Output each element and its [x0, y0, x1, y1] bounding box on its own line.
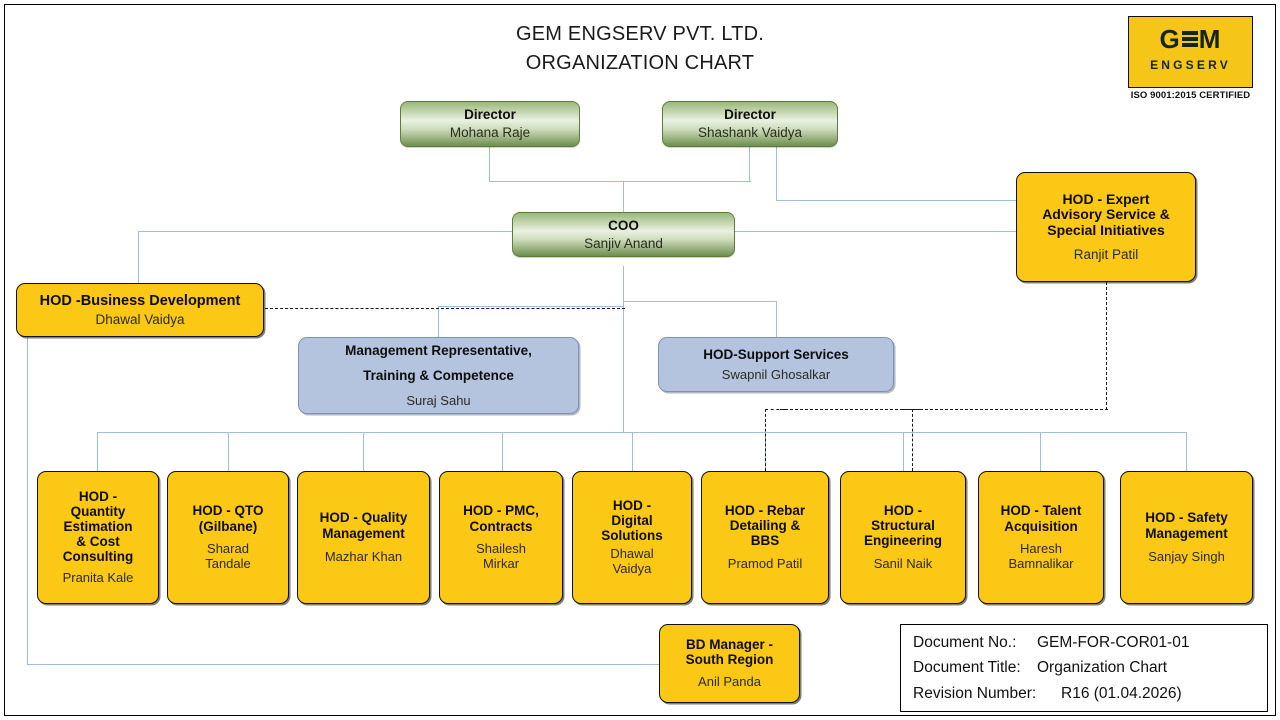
node-role-line-2: Contracts — [469, 519, 532, 534]
node-person: Pranita Kale — [63, 571, 134, 586]
node-role-line-1: HOD - — [884, 503, 922, 518]
document-number-label: Document No.: — [913, 630, 1037, 655]
node-person-line-2: Mirkar — [483, 557, 519, 572]
node-person: Anil Panda — [698, 675, 761, 690]
connector-drop-hod-7 — [903, 432, 904, 471]
node-person: Dhawal Vaidya — [95, 312, 184, 328]
node-role-line-1: HOD - Rebar — [725, 503, 805, 518]
document-info-box: Document No.:GEM-FOR-COR01-01 Document T… — [900, 624, 1268, 712]
node-role: Director — [464, 107, 516, 122]
connector-directors-bar — [489, 181, 751, 182]
node-person-line-1: Dhawal — [610, 547, 653, 562]
node-role-line-2: Digital — [611, 513, 652, 528]
connector-expert-advisory-dashed-left — [780, 409, 1108, 410]
node-role-line-2: Management — [322, 526, 405, 541]
company-name: GEM ENGSERV PVT. LTD. — [330, 20, 950, 49]
connector-drop-hod-3 — [363, 432, 364, 471]
logo-letter-m: M — [1199, 24, 1222, 54]
connector-business-development-dashed — [265, 308, 625, 309]
connector-to-mgmt-rep — [438, 306, 439, 337]
connector-coo-spine — [623, 266, 624, 433]
node-person-line-2: Vaidya — [613, 562, 652, 577]
document-number-value: GEM-FOR-COR01-01 — [1037, 630, 1189, 655]
connector-drop-hod-9 — [1186, 432, 1187, 471]
node-role-line-4: & Cost — [76, 534, 120, 549]
node-role: HOD -Business Development — [40, 293, 241, 309]
connector-expert-advisory-dashed-down — [1106, 282, 1107, 410]
connector-dashed-to-structural — [912, 409, 913, 471]
node-person: Shashank Vaidya — [698, 125, 802, 141]
node-role-line-1: HOD - Talent — [1001, 503, 1082, 518]
connector-drop-hod-2 — [228, 432, 229, 471]
connector-expert-advisory-dashed-left2 — [765, 409, 785, 410]
node-person: Suraj Sahu — [406, 389, 470, 414]
node-bd-manager-south-region[interactable]: BD Manager - South Region Anil Panda — [659, 624, 800, 703]
connector-coo-to-expert-advisory — [735, 231, 1016, 232]
logo-letter-e-icon — [1181, 29, 1199, 53]
node-role-line-3: BBS — [751, 533, 780, 548]
node-person-line-2: Tandale — [205, 557, 251, 572]
node-role-line-3: Engineering — [864, 533, 942, 548]
chart-subtitle: ORGANIZATION CHART — [330, 49, 950, 78]
connector-spine-to-support-bar — [623, 301, 777, 302]
connector-director2-down — [749, 147, 750, 182]
node-hod-rebar-detailing-bbs[interactable]: HOD - Rebar Detailing & BBS Pramod Patil — [701, 471, 829, 604]
node-hod-digital-solutions[interactable]: HOD - Digital Solutions Dhawal Vaidya — [572, 471, 692, 604]
gem-engserv-logo: GM ENGSERV ISO 9001:2015 CERTIFIED — [1128, 16, 1253, 106]
connector-hod-distribution-bar — [97, 432, 1187, 433]
node-hod-qto-gilbane[interactable]: HOD - QTO (Gilbane) Sharad Tandale — [167, 471, 289, 604]
document-title-row: Document Title:Organization Chart — [913, 655, 1267, 680]
node-role: COO — [608, 218, 639, 233]
connector-to-coo — [623, 181, 624, 214]
node-role-line-1: Management Representative, — [345, 338, 532, 364]
revision-number-row: Revision Number:R16 (01.04.2026) — [913, 681, 1267, 706]
node-role-line-2: Acquisition — [1004, 519, 1078, 534]
node-hod-safety-management[interactable]: HOD - Safety Management Sanjay Singh — [1120, 471, 1253, 604]
connector-drop-hod-8 — [1040, 432, 1041, 471]
node-person: Sanil Naik — [874, 557, 933, 572]
node-director-mohana-raje[interactable]: Director Mohana Raje — [400, 101, 580, 147]
document-number-row: Document No.:GEM-FOR-COR01-01 — [913, 630, 1267, 655]
node-role-line-2: Structural — [871, 518, 935, 533]
node-role-line-1: BD Manager - — [686, 637, 773, 652]
revision-number-label: Revision Number: — [913, 681, 1061, 706]
connector-to-support-services — [776, 301, 777, 337]
node-person: Ranjit Patil — [1074, 247, 1139, 263]
node-hod-pmc-contracts[interactable]: HOD - PMC, Contracts Shailesh Mirkar — [439, 471, 563, 604]
node-hod-support-services[interactable]: HOD-Support Services Swapnil Ghosalkar — [658, 337, 894, 392]
node-role: Director — [724, 107, 776, 122]
connector-coo-left-bar — [138, 231, 514, 232]
node-role-line-2: Quantity — [71, 504, 126, 519]
logo-wordmark: GM — [1128, 26, 1253, 53]
node-role-line-1: HOD - Quality — [320, 510, 408, 525]
iso-certification-text: ISO 9001:2015 CERTIFIED — [1128, 90, 1253, 101]
node-management-representative[interactable]: Management Representative, Training & Co… — [298, 337, 579, 414]
node-role-line-1: HOD - Safety — [1145, 510, 1228, 525]
node-hod-talent-acquisition[interactable]: HOD - Talent Acquisition Haresh Bamnalik… — [978, 471, 1104, 604]
node-role-line-1: HOD - Expert — [1062, 192, 1149, 208]
node-role-line-2: Detailing & — [730, 518, 801, 533]
node-person-line-1: Sharad — [207, 542, 249, 557]
node-role-line-2: (Gilbane) — [199, 519, 258, 534]
node-role-line-2: Advisory Service & — [1042, 207, 1170, 223]
node-director-shashank-vaidya[interactable]: Director Shashank Vaidya — [662, 101, 838, 147]
connector-dashed-structural-stub — [903, 409, 921, 410]
connector-bd-down — [27, 337, 28, 665]
node-person: Swapnil Ghosalkar — [722, 365, 830, 385]
node-role-line-5: Consulting — [63, 549, 134, 564]
node-role-line-3: Special Initiatives — [1047, 223, 1165, 239]
connector-director2-to-expert-advisory — [776, 200, 1016, 201]
node-role: HOD-Support Services — [703, 345, 849, 365]
node-role-line-2: Management — [1145, 526, 1228, 541]
node-person: Sanjay Singh — [1148, 550, 1225, 565]
node-person-line-1: Shailesh — [476, 542, 526, 557]
node-person-line-2: Bamnalikar — [1008, 557, 1073, 572]
page-border — [4, 4, 1276, 716]
connector-bd-to-bd-manager — [27, 664, 660, 665]
node-role-line-1: HOD - — [79, 489, 117, 504]
page-title: GEM ENGSERV PVT. LTD. ORGANIZATION CHART — [330, 20, 950, 78]
connector-drop-hod-1 — [97, 432, 98, 471]
connector-drop-hod-5 — [632, 432, 633, 471]
node-person: Pramod Patil — [728, 557, 802, 572]
node-hod-structural-engineering[interactable]: HOD - Structural Engineering Sanil Naik — [840, 471, 966, 604]
connector-dashed-to-rebar — [765, 409, 766, 471]
organization-chart-page: GEM ENGSERV PVT. LTD. ORGANIZATION CHART… — [0, 0, 1280, 720]
connector-director2-right-down — [776, 147, 777, 201]
revision-number-value: R16 (01.04.2026) — [1061, 681, 1182, 706]
node-person: Mazhar Khan — [325, 550, 402, 565]
node-role-line-3: Estimation — [63, 519, 132, 534]
node-person: Sanjiv Anand — [584, 236, 663, 252]
node-role-line-1: HOD - — [613, 498, 651, 513]
node-role-line-2: South Region — [686, 652, 774, 667]
node-role-line-3: Solutions — [601, 528, 663, 543]
logo-subtext: ENGSERV — [1128, 58, 1253, 72]
document-title-value: Organization Chart — [1037, 655, 1167, 680]
node-role-line-2: Training & Competence — [363, 363, 514, 389]
node-hod-expert-advisory[interactable]: HOD - Expert Advisory Service & Special … — [1016, 172, 1196, 282]
connector-drop-hod-4 — [502, 432, 503, 471]
node-person-line-1: Haresh — [1020, 542, 1062, 557]
logo-letter-g: G — [1160, 24, 1181, 54]
node-hod-quantity-estimation[interactable]: HOD - Quantity Estimation & Cost Consult… — [37, 471, 159, 604]
node-coo-sanjiv-anand[interactable]: COO Sanjiv Anand — [512, 212, 735, 257]
node-role-line-1: HOD - PMC, — [463, 503, 539, 518]
node-person: Mohana Raje — [450, 125, 530, 141]
node-role-line-1: HOD - QTO — [192, 503, 263, 518]
document-title-label: Document Title: — [913, 655, 1037, 680]
node-hod-business-development[interactable]: HOD -Business Development Dhawal Vaidya — [16, 283, 264, 337]
connector-to-business-development — [138, 231, 139, 283]
node-hod-quality-management[interactable]: HOD - Quality Management Mazhar Khan — [297, 471, 430, 604]
connector-director1-down — [489, 147, 490, 182]
